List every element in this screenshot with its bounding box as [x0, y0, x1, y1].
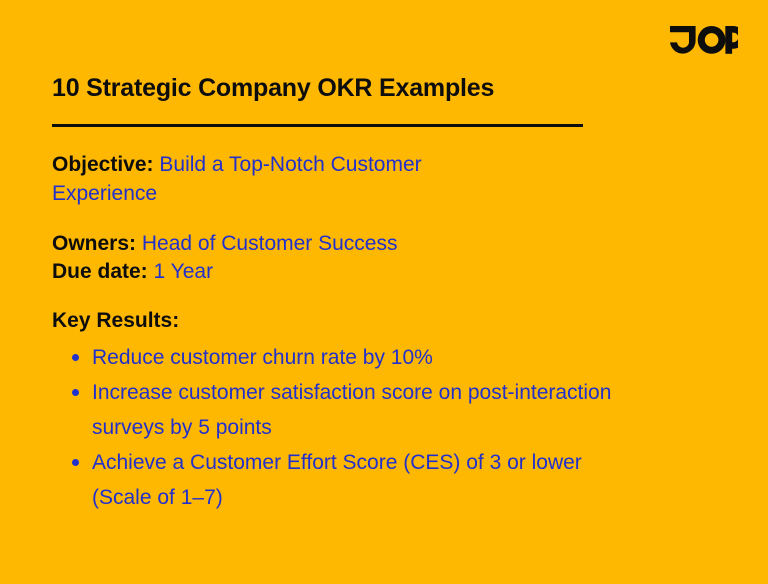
objective-label: Objective:	[52, 153, 154, 176]
key-result-text: Reduce customer churn rate by 10%	[92, 346, 433, 369]
due-date-label: Due date:	[52, 260, 148, 283]
owners-row: Owners: Head of Customer Success	[52, 229, 397, 258]
jop-logo[interactable]	[670, 26, 738, 54]
objective-row: Objective: Build a Top-Notch Customer Ex…	[52, 150, 520, 208]
owners-value: Head of Customer Success	[142, 232, 398, 255]
bullet-dot-icon	[72, 459, 79, 466]
title-divider	[52, 124, 583, 127]
okr-example-slide: 10 Strategic Company OKR Examples Object…	[0, 0, 768, 584]
due-date-row: Due date: 1 Year	[52, 257, 213, 286]
bullet-dot-icon	[72, 389, 79, 396]
key-result-item: Reduce customer churn rate by 10%	[72, 340, 628, 375]
owners-label: Owners:	[52, 232, 136, 255]
key-result-text: Increase customer satisfaction score on …	[92, 381, 611, 439]
key-results-label: Key Results:	[52, 306, 179, 335]
key-result-item: Increase customer satisfaction score on …	[72, 375, 628, 445]
key-results-list: Reduce customer churn rate by 10%Increas…	[72, 340, 628, 515]
page-title: 10 Strategic Company OKR Examples	[52, 74, 494, 103]
key-result-item: Achieve a Customer Effort Score (CES) of…	[72, 445, 628, 515]
due-date-value: 1 Year	[154, 260, 214, 283]
key-result-text: Achieve a Customer Effort Score (CES) of…	[92, 451, 582, 509]
bullet-dot-icon	[72, 354, 79, 361]
jop-wordmark-icon	[670, 26, 738, 54]
